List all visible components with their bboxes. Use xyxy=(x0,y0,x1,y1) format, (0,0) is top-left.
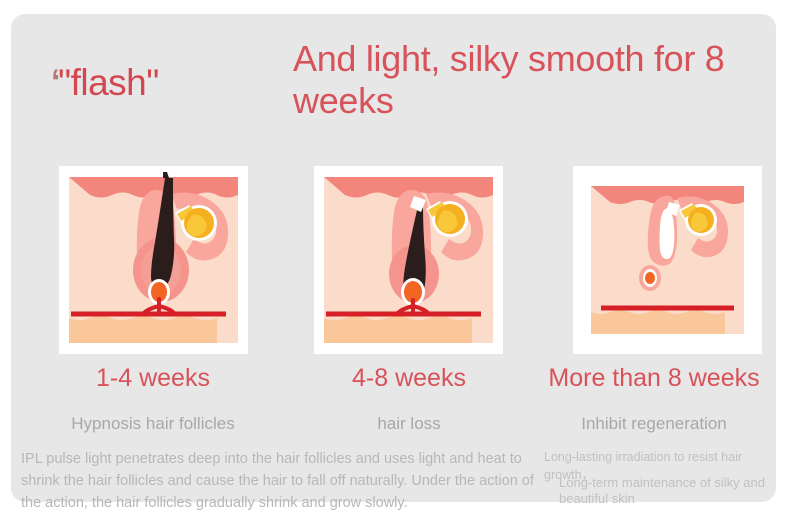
page-headline: And light, silky smooth for 8 weeks xyxy=(293,38,773,123)
stage-week-label-3: More than 8 weeks xyxy=(534,364,774,393)
hair-follicle-shrinking-diagram xyxy=(314,166,503,354)
flash-label: "flash" xyxy=(58,62,159,103)
stage-sub-label-3: Inhibit regeneration xyxy=(534,414,774,434)
hair-follicle-intact-diagram xyxy=(59,166,248,354)
content-card: ‘"flash" And light, silky smooth for 8 w… xyxy=(11,14,776,502)
stage-sub-label-2: hair loss xyxy=(289,414,529,434)
stage-illustration-2 xyxy=(314,166,503,354)
flash-title: ‘"flash" xyxy=(51,62,159,104)
stage-illustration-3 xyxy=(573,166,762,354)
hair-follicle-empty-diagram xyxy=(573,166,762,354)
promo-infographic: ‘"flash" And light, silky smooth for 8 w… xyxy=(0,0,790,526)
stage-illustration-1 xyxy=(59,166,248,354)
stage-week-label-2: 4-8 weeks xyxy=(289,364,529,393)
description-left: IPL pulse light penetrates deep into the… xyxy=(21,448,541,514)
description-right-line-2: Long-term maintenance of silky and beaut… xyxy=(559,475,774,508)
stage-sub-label-1: Hypnosis hair follicles xyxy=(33,414,273,434)
stage-week-label-1: 1-4 weeks xyxy=(33,364,273,393)
